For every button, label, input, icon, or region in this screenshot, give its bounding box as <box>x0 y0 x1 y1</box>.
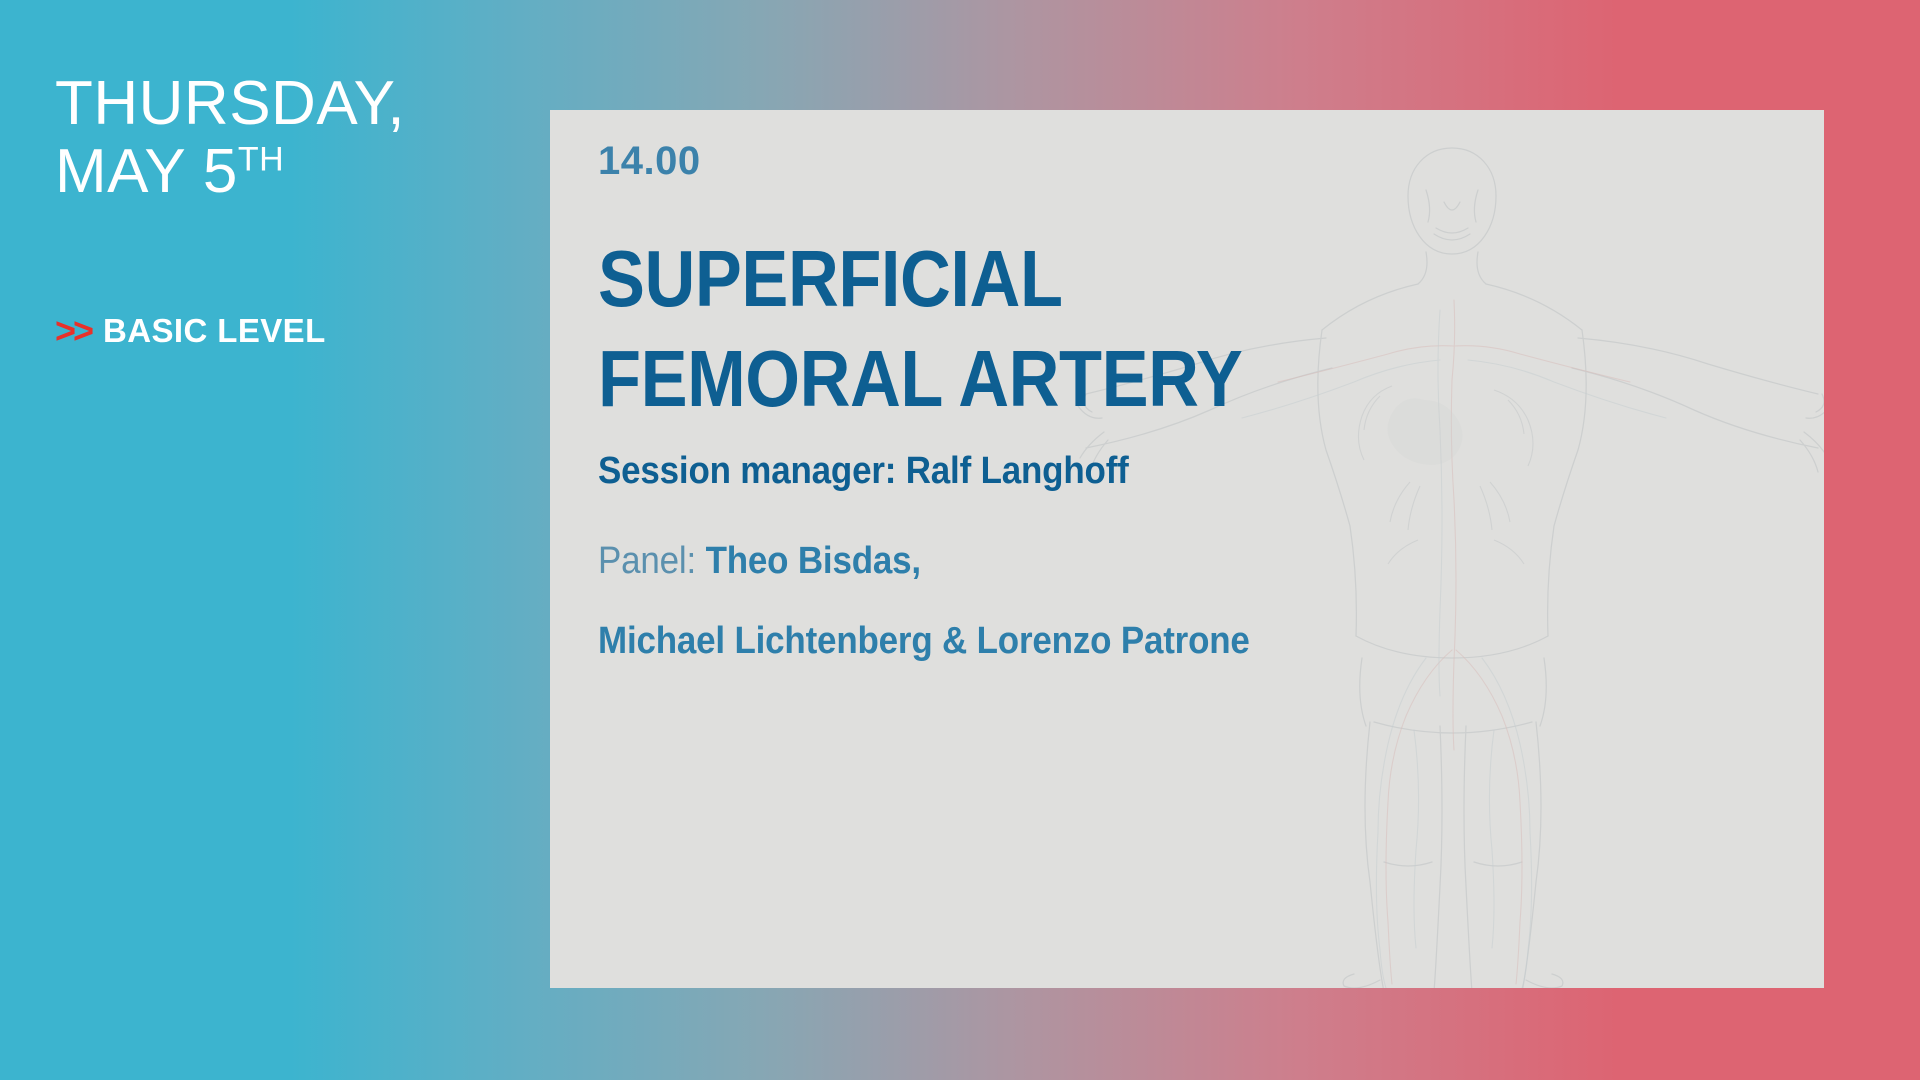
session-manager: Session manager: Ralf Langhoff <box>598 448 1426 494</box>
session-slide: THURSDAY, MAY 5TH >> BASIC LEVEL <box>0 0 1920 1080</box>
date-day-number: MAY 5 <box>55 137 238 206</box>
panel-names-line-1: Theo Bisdas, <box>706 540 921 582</box>
panel-line-2: Michael Lichtenberg & Lorenzo Patrone <box>598 618 1426 664</box>
panel-label: Panel: <box>598 540 696 582</box>
session-time: 14.00 <box>598 138 1498 184</box>
level-badge: >> BASIC LEVEL <box>55 313 326 349</box>
double-chevron-right-icon: >> <box>55 313 91 349</box>
date-line-day: MAY 5TH <box>55 138 485 206</box>
level-badge-label: BASIC LEVEL <box>103 313 326 349</box>
date-line-weekday: THURSDAY, <box>55 70 485 138</box>
session-text-block: 14.00 SUPERFICIAL FEMORAL ARTERY Session… <box>598 110 1498 664</box>
session-title-line-2: FEMORAL ARTERY <box>598 336 1390 422</box>
date-day-ordinal: TH <box>238 140 284 178</box>
panel-line-1: Panel: Theo Bisdas, <box>598 538 1426 584</box>
date-block: THURSDAY, MAY 5TH <box>55 70 485 206</box>
panel-names-line-2: Michael Lichtenberg & Lorenzo Patrone <box>598 620 1250 662</box>
session-title-line-1: SUPERFICIAL <box>598 236 1390 322</box>
session-card: 14.00 SUPERFICIAL FEMORAL ARTERY Session… <box>550 110 1824 988</box>
